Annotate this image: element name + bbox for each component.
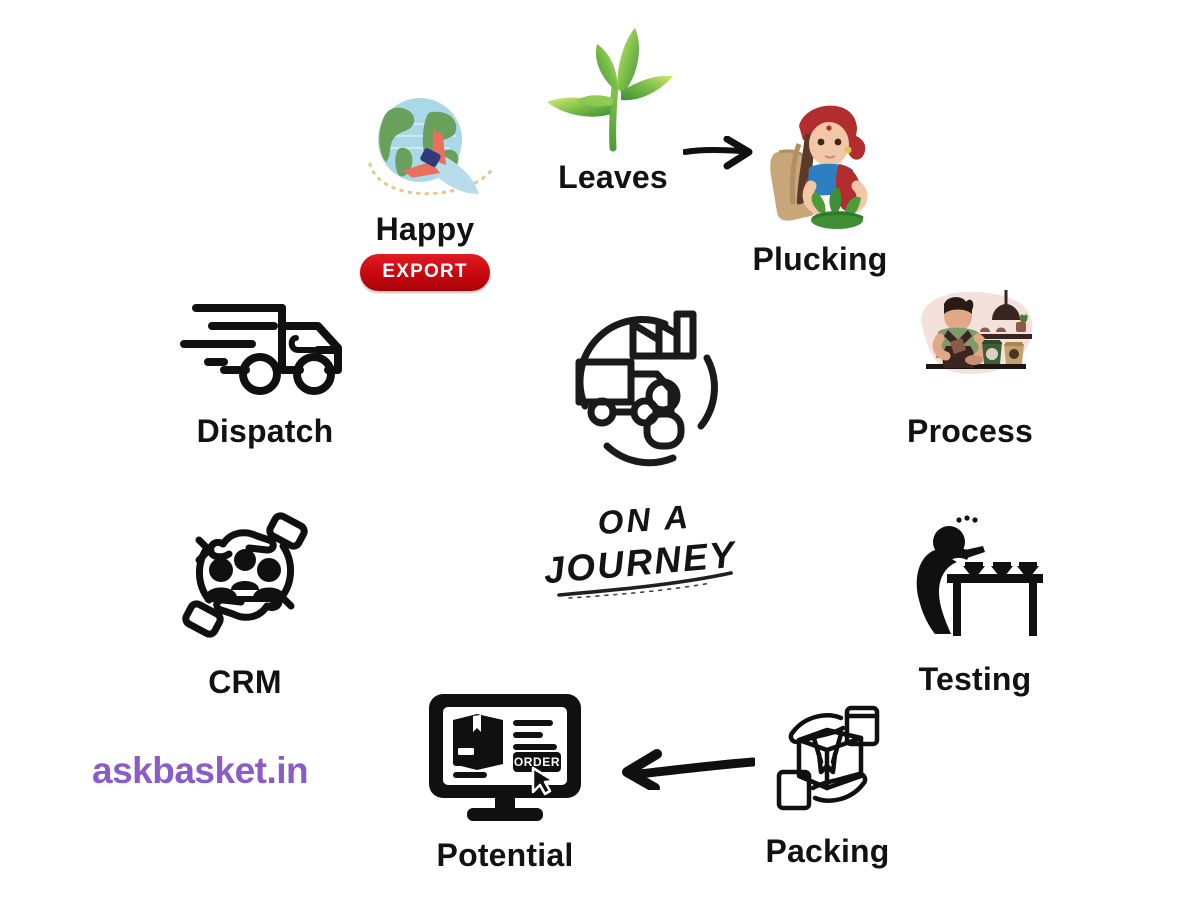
node-label-potential: Potential — [437, 837, 574, 874]
node-label-crm: CRM — [208, 664, 281, 701]
hands-holding-box-icon — [763, 692, 893, 827]
monitor-order-icon: ORDER — [421, 690, 589, 827]
node-dispatch: Dispatch — [170, 290, 360, 450]
node-testing: Testing — [890, 508, 1060, 698]
node-potential: ORDER Potential — [405, 690, 605, 874]
node-label-testing: Testing — [919, 661, 1032, 698]
node-label-packing: Packing — [765, 833, 889, 870]
journey-line-2: JOURNEY — [545, 534, 739, 592]
journey-headline: ON A JOURNEY — [545, 491, 745, 606]
node-process: Process — [880, 288, 1060, 450]
export-badge: EXPORT — [360, 254, 489, 291]
node-happy-export: Happy EXPORT — [340, 92, 510, 291]
tea-leaves-icon — [543, 24, 683, 157]
customer-relationship-icon — [165, 500, 325, 650]
node-plucking: Plucking — [735, 100, 905, 278]
tea-tasting-icon — [905, 508, 1045, 653]
globe-airplane-icon — [350, 92, 500, 209]
node-label-leaves: Leaves — [558, 159, 668, 196]
delivery-truck-icon — [178, 290, 353, 403]
journey-line-1: ON A — [596, 498, 692, 541]
tea-processing-worker-icon — [900, 288, 1040, 405]
arrow-packing-to-potential — [605, 748, 755, 795]
node-label-happy: Happy — [376, 211, 475, 248]
node-crm: CRM — [155, 500, 335, 701]
infographic-canvas: Happy EXPORT — [0, 0, 1200, 900]
journey-hub: ON A JOURNEY — [540, 300, 750, 606]
node-label-process: Process — [907, 413, 1033, 450]
node-leaves: Leaves — [528, 24, 698, 196]
node-packing: Packing — [750, 692, 905, 870]
supply-chain-cycle-icon — [555, 300, 735, 485]
node-label-dispatch: Dispatch — [197, 413, 334, 450]
order-button-text: ORDER — [514, 755, 560, 769]
node-label-plucking: Plucking — [753, 241, 888, 278]
watermark-askbasket: askbasket.in — [92, 750, 308, 792]
tea-plucker-woman-icon — [753, 100, 888, 237]
